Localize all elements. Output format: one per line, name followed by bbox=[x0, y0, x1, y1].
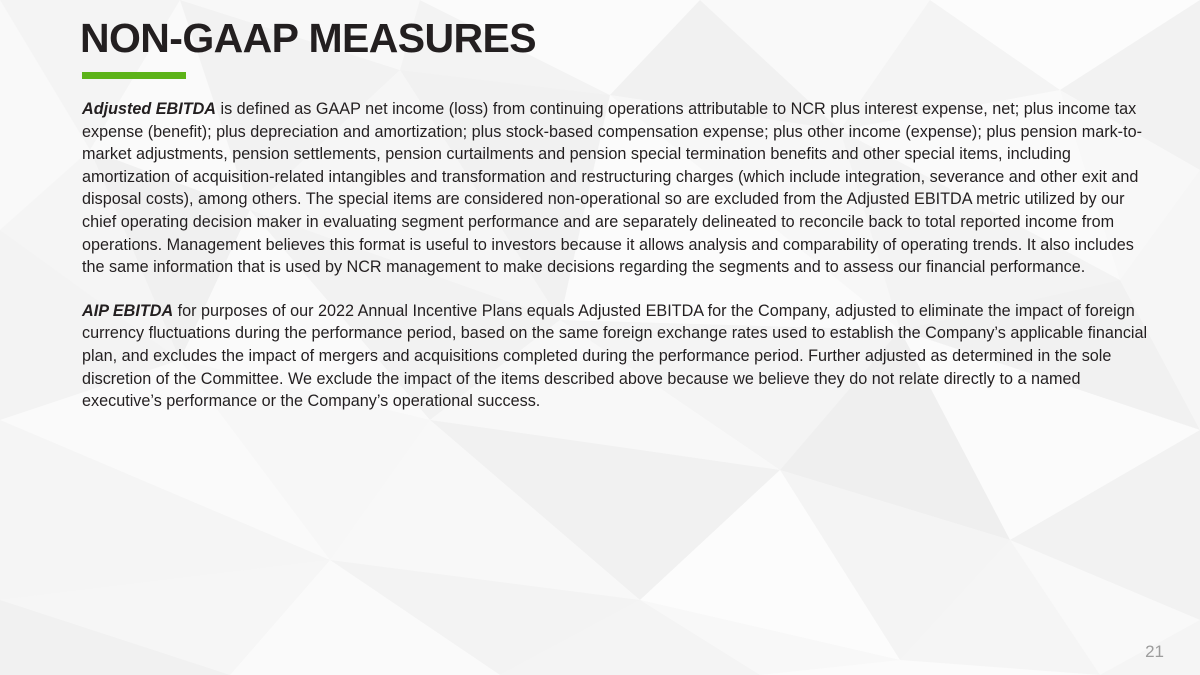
paragraph-adjusted-ebitda: Adjusted EBITDA is defined as GAAP net i… bbox=[82, 98, 1158, 279]
page-number: 21 bbox=[1145, 642, 1164, 662]
page-title: NON-GAAP MEASURES bbox=[80, 12, 536, 64]
term-aip-ebitda: AIP EBITDA bbox=[82, 302, 173, 320]
paragraph-aip-ebitda-text: for purposes of our 2022 Annual Incentiv… bbox=[82, 302, 1147, 410]
term-adjusted-ebitda: Adjusted EBITDA bbox=[82, 100, 216, 118]
body-content: Adjusted EBITDA is defined as GAAP net i… bbox=[82, 98, 1158, 413]
paragraph-adjusted-ebitda-text: is defined as GAAP net income (loss) fro… bbox=[82, 100, 1142, 276]
paragraph-aip-ebitda: AIP EBITDA for purposes of our 2022 Annu… bbox=[82, 300, 1158, 413]
title-accent-rule bbox=[82, 72, 186, 79]
slide-canvas: NON-GAAP MEASURES Adjusted EBITDA is def… bbox=[0, 0, 1200, 675]
